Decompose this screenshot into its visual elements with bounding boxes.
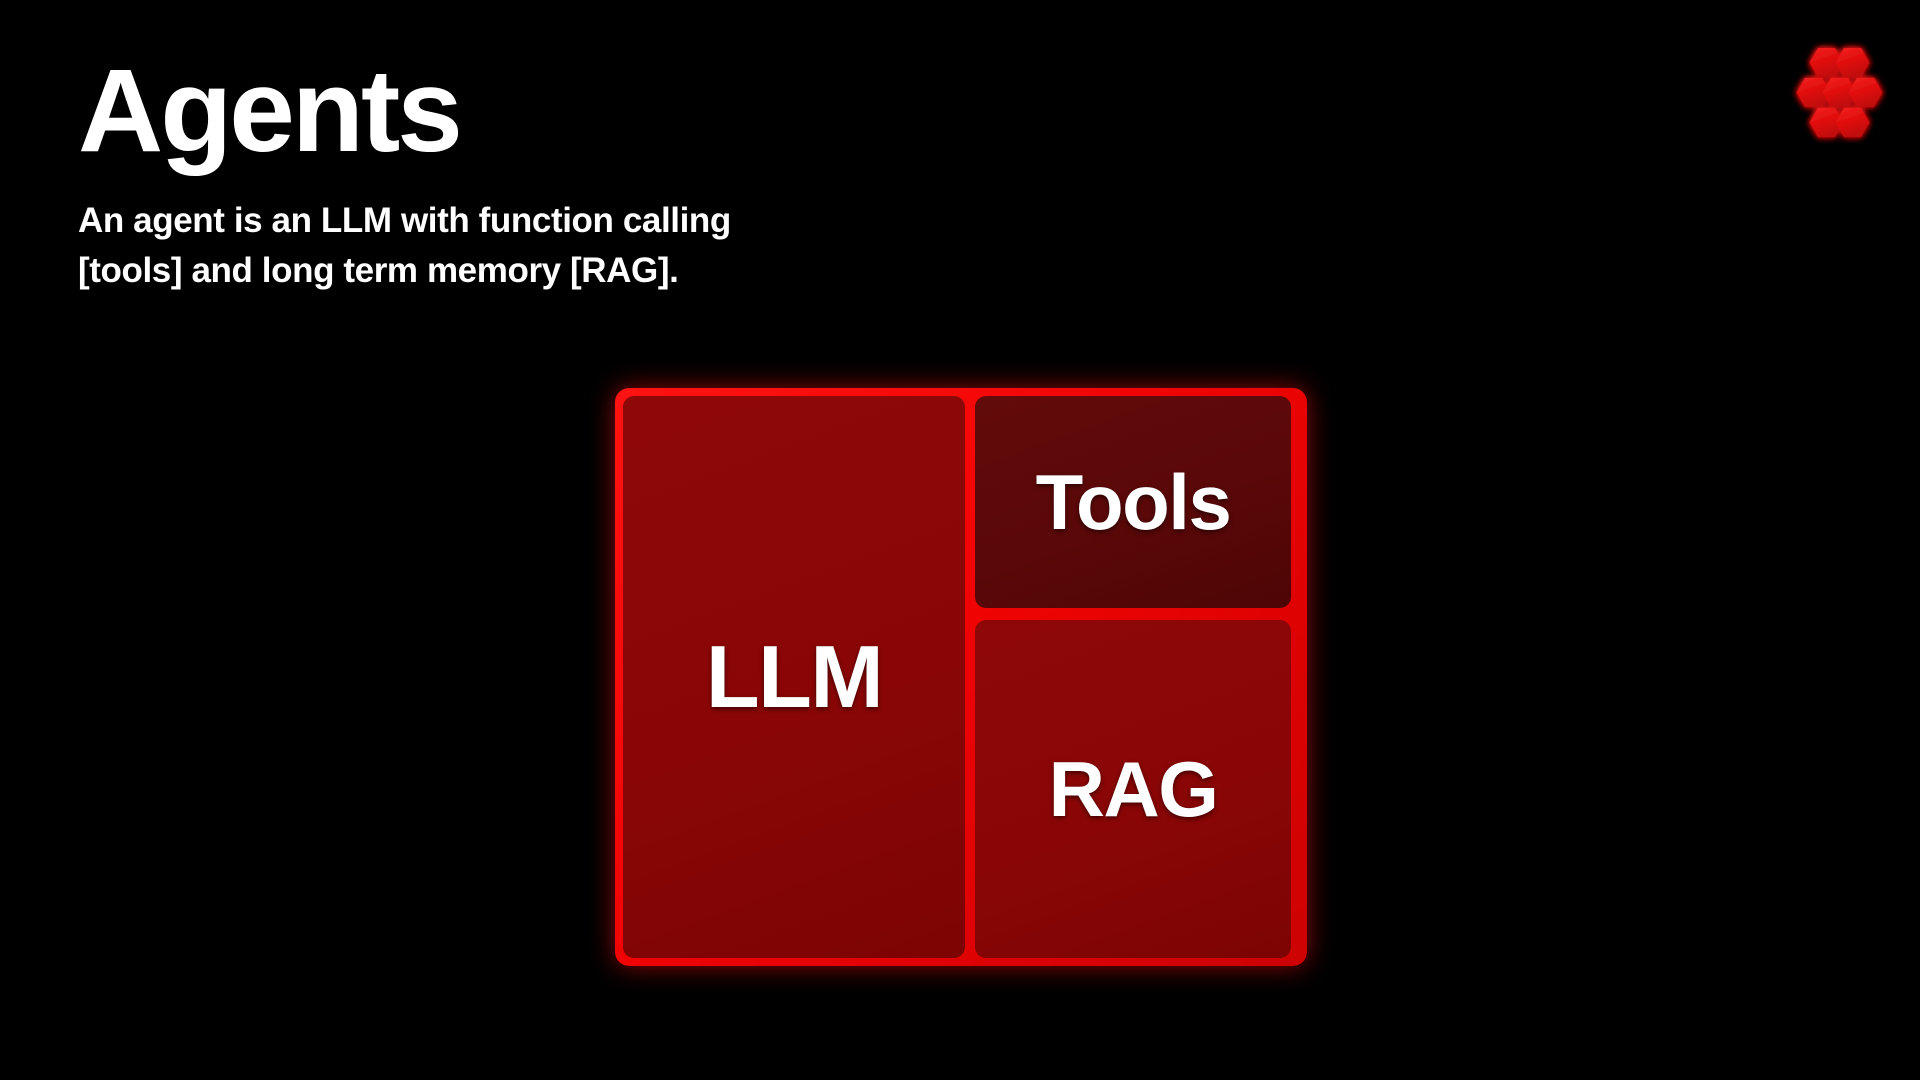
hexagon-cluster-icon [1778,30,1894,146]
panel-tools[interactable]: Tools [975,396,1291,608]
agent-architecture-diagram: LLM Tools RAG [615,388,1307,966]
diagram-right-column: Tools RAG [975,396,1299,958]
subtitle-line-2: [tools] and long term memory [RAG]. [78,246,1008,296]
title-block: Agents An agent is an LLM with function … [78,52,1178,295]
panel-rag[interactable]: RAG [975,620,1291,958]
panel-llm-label: LLM [706,633,882,721]
subtitle-line-1: An agent is an LLM with function calling [78,196,1008,246]
diagram-left-column: LLM [623,396,965,958]
panel-tools-label: Tools [1036,463,1231,541]
panel-llm[interactable]: LLM [623,396,965,958]
page-title: Agents [78,52,1178,170]
hexagon-cluster-logo [1778,30,1894,146]
slide-subtitle: An agent is an LLM with function calling… [78,196,1008,295]
panel-rag-label: RAG [1049,750,1218,828]
